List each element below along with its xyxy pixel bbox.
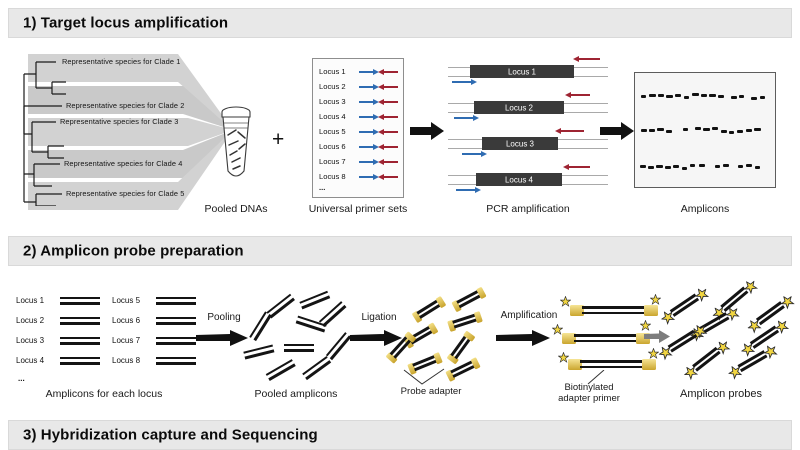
caption-amplicons-each-locus: Amplicons for each locus bbox=[12, 388, 196, 400]
section-title-2: 2) Amplicon probe preparation bbox=[23, 243, 244, 260]
process-arrow-icon bbox=[644, 330, 670, 343]
caption-universal-primer-sets: Universal primer sets bbox=[300, 203, 416, 215]
reverse-primer-arrow-icon bbox=[383, 116, 398, 118]
amplicons-per-locus-list: Locus 1 Locus 2 Locus 3 Locus 4 Locus 5 … bbox=[16, 296, 196, 378]
caption-pcr-amplification: PCR amplification bbox=[468, 203, 588, 215]
pcr-locus-1: Locus 1 bbox=[448, 55, 608, 87]
caption-amplicons: Amplicons bbox=[648, 203, 762, 215]
plus-symbol: + bbox=[272, 128, 284, 152]
locus-bar: Locus 2 bbox=[474, 101, 564, 114]
pcr-amplification-panel: Locus 1 Locus 2 Locus 3 Locus 4 bbox=[448, 55, 608, 200]
biotin-caption-line-1: Biotinylated bbox=[564, 382, 613, 393]
amplicon-probe bbox=[663, 288, 708, 324]
primer-row-5: Locus 5 bbox=[319, 125, 401, 139]
biotin-star-icon bbox=[552, 324, 563, 335]
step-label-pooling: Pooling bbox=[196, 312, 252, 324]
locus-entry-label: Locus 5 bbox=[112, 296, 140, 305]
locus-entry-label: Locus 8 bbox=[112, 356, 140, 365]
process-arrow-icon bbox=[496, 330, 550, 346]
universal-primer-sets-box: Locus 1 Locus 2 Locus 3 Locus 4 Locus 5 … bbox=[312, 58, 404, 198]
biotin-star-icon bbox=[558, 352, 569, 363]
step-label-ligation: Ligation bbox=[350, 312, 408, 324]
reverse-primer-arrow-icon bbox=[570, 94, 590, 96]
biotin-caption-line-2: adapter primer bbox=[558, 393, 620, 404]
amplification-product bbox=[566, 356, 658, 372]
forward-primer-arrow-icon bbox=[359, 131, 374, 133]
tree-leaf-label-5: Representative species for Clade 5 bbox=[66, 189, 184, 198]
section-header-2: 2) Amplicon probe preparation bbox=[8, 236, 792, 266]
amplification-product bbox=[560, 330, 652, 346]
primer-row-label: Locus 4 bbox=[319, 112, 346, 121]
biotin-star-icon bbox=[560, 296, 571, 307]
caption-biotinylated-primer: Biotinylated adapter primer bbox=[534, 383, 644, 405]
forward-primer-arrow-icon bbox=[359, 86, 374, 88]
locus-bar-label: Locus 2 bbox=[474, 103, 564, 112]
locus-entry-label: Locus 4 bbox=[16, 356, 44, 365]
forward-primer-arrow-icon bbox=[454, 117, 474, 119]
locus-bar-label: Locus 1 bbox=[470, 67, 574, 76]
dna-duplex-icon bbox=[60, 317, 100, 326]
primer-row-6: Locus 6 bbox=[319, 140, 401, 154]
dna-duplex-icon bbox=[156, 317, 196, 326]
forward-primer-arrow-icon bbox=[359, 116, 374, 118]
tree-leaf-label-4: Representative species for Clade 4 bbox=[64, 159, 182, 168]
forward-primer-arrow-icon bbox=[359, 176, 374, 178]
adapter-ligated-fragment bbox=[412, 296, 447, 323]
reverse-primer-arrow-icon bbox=[383, 71, 398, 73]
amplicon-probe bbox=[685, 341, 729, 379]
forward-primer-arrow-icon bbox=[359, 101, 374, 103]
primer-row-2: Locus 2 bbox=[319, 80, 401, 94]
dna-duplex-icon bbox=[60, 297, 100, 306]
reverse-primer-arrow-icon bbox=[560, 130, 584, 132]
locus-bar-label: Locus 3 bbox=[482, 139, 558, 148]
reverse-primer-arrow-icon bbox=[383, 146, 398, 148]
tree-leaf-label-3: Representative species for Clade 3 bbox=[60, 117, 178, 126]
forward-primer-arrow-icon bbox=[462, 153, 482, 155]
pcr-locus-3: Locus 3 bbox=[448, 127, 608, 159]
section-title-3: 3) Hybridization capture and Sequencing bbox=[23, 427, 318, 444]
section-header-3: 3) Hybridization capture and Sequencing bbox=[8, 420, 792, 450]
tree-leaf-label-1: Representative species for Clade 1 bbox=[62, 57, 180, 66]
biotin-star-icon bbox=[650, 294, 661, 305]
dna-duplex-icon bbox=[156, 297, 196, 306]
adapter-ligated-fragment bbox=[451, 287, 486, 313]
amplification-product bbox=[568, 302, 660, 318]
locus-entry-label: Locus 1 bbox=[16, 296, 44, 305]
dna-duplex-icon bbox=[156, 337, 196, 346]
reverse-primer-arrow-icon bbox=[383, 101, 398, 103]
locus-entry-label: Locus 2 bbox=[16, 316, 44, 325]
caption-amplicon-probes: Amplicon probes bbox=[656, 388, 786, 400]
primer-row-3: Locus 3 bbox=[319, 95, 401, 109]
section-title-1: 1) Target locus amplification bbox=[23, 15, 228, 32]
microcentrifuge-tube-icon bbox=[216, 105, 256, 183]
reverse-primer-arrow-icon bbox=[568, 166, 590, 168]
diagram-canvas: 1) Target locus amplification Representa… bbox=[0, 0, 800, 450]
primer-row-label: Locus 5 bbox=[319, 127, 346, 136]
process-arrow-icon bbox=[196, 330, 248, 346]
locus-entry-label: Locus 7 bbox=[112, 336, 140, 345]
locus-list-ellipsis: ... bbox=[18, 374, 25, 383]
pcr-locus-2: Locus 2 bbox=[448, 91, 608, 123]
primer-row-4: Locus 4 bbox=[319, 110, 401, 124]
locus-entry-label: Locus 6 bbox=[112, 316, 140, 325]
locus-bar: Locus 4 bbox=[476, 173, 562, 186]
primer-row-label: Locus 3 bbox=[319, 97, 346, 106]
primer-row-7: Locus 7 bbox=[319, 155, 401, 169]
reverse-primer-arrow-icon bbox=[383, 131, 398, 133]
forward-primer-arrow-icon bbox=[359, 71, 374, 73]
tree-leaf-label-2: Representative species for Clade 2 bbox=[66, 101, 184, 110]
primer-row-label: Locus 1 bbox=[319, 67, 346, 76]
forward-primer-arrow-icon bbox=[456, 189, 476, 191]
primer-row-label: Locus 2 bbox=[319, 82, 346, 91]
locus-bar-label: Locus 4 bbox=[476, 175, 562, 184]
primer-list-ellipsis: ... bbox=[319, 183, 325, 192]
caption-pooled-amplicons: Pooled amplicons bbox=[238, 388, 354, 400]
primer-row-8: Locus 8 bbox=[319, 170, 401, 184]
dna-duplex-icon bbox=[60, 357, 100, 366]
pcr-locus-4: Locus 4 bbox=[448, 163, 608, 195]
primer-row-label: Locus 7 bbox=[319, 157, 346, 166]
locus-entry-label: Locus 3 bbox=[16, 336, 44, 345]
step-label-amplification: Amplification bbox=[492, 310, 566, 322]
process-arrow-icon bbox=[410, 122, 444, 140]
forward-primer-arrow-icon bbox=[359, 146, 374, 148]
dna-duplex-icon bbox=[60, 337, 100, 346]
section-header-1: 1) Target locus amplification bbox=[8, 8, 792, 38]
process-arrow-icon bbox=[350, 330, 402, 346]
primer-row-label: Locus 6 bbox=[319, 142, 346, 151]
dna-duplex-icon bbox=[156, 357, 196, 366]
caption-probe-adapter: Probe adapter bbox=[382, 386, 480, 397]
locus-bar: Locus 3 bbox=[482, 137, 558, 150]
reverse-primer-arrow-icon bbox=[578, 58, 600, 60]
process-arrow-icon bbox=[600, 122, 634, 140]
reverse-primer-arrow-icon bbox=[383, 176, 398, 178]
forward-primer-arrow-icon bbox=[452, 81, 472, 83]
phylogenetic-tree: Representative species for Clade 1 Repre… bbox=[22, 56, 237, 206]
caption-pooled-dnas: Pooled DNAs bbox=[186, 203, 286, 215]
primer-row-1: Locus 1 bbox=[319, 65, 401, 79]
reverse-primer-arrow-icon bbox=[383, 161, 398, 163]
primer-row-label: Locus 8 bbox=[319, 172, 346, 181]
adapter-ligated-fragment bbox=[447, 311, 483, 332]
gel-electrophoresis-image bbox=[634, 72, 776, 188]
locus-bar: Locus 1 bbox=[470, 65, 574, 78]
probe-adapter-leader-lines bbox=[400, 368, 460, 386]
forward-primer-arrow-icon bbox=[359, 161, 374, 163]
reverse-primer-arrow-icon bbox=[383, 86, 398, 88]
